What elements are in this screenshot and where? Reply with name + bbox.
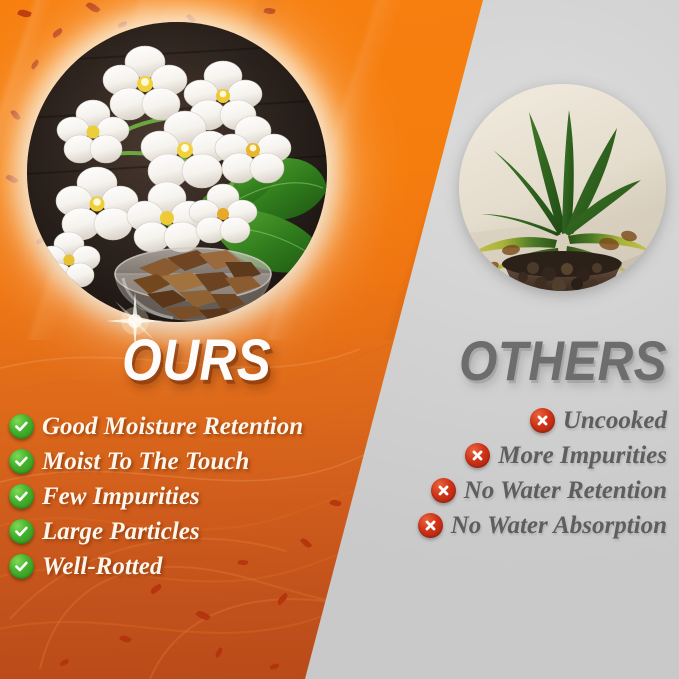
list-item: Good Moisture Retention bbox=[9, 414, 303, 439]
list-item-label: Few Impurities bbox=[42, 484, 200, 509]
list-item: Few Impurities bbox=[9, 484, 200, 509]
ours-product-photo bbox=[27, 22, 327, 322]
others-feature-list: Uncooked More Impurities No Water Retent… bbox=[418, 408, 667, 538]
list-item-label: Large Particles bbox=[42, 519, 200, 544]
list-item: Uncooked bbox=[530, 408, 667, 433]
cross-icon bbox=[530, 408, 555, 433]
others-heading: OTHERS bbox=[459, 328, 667, 393]
list-item: Well-Rotted bbox=[9, 554, 162, 579]
check-icon bbox=[9, 519, 34, 544]
others-product-photo bbox=[459, 84, 666, 291]
list-item: No Water Absorption bbox=[418, 513, 667, 538]
list-item-label: Uncooked bbox=[563, 408, 667, 433]
list-item-label: Good Moisture Retention bbox=[42, 414, 303, 439]
list-item: More Impurities bbox=[465, 443, 667, 468]
ours-feature-list: Good Moisture Retention Moist To The Tou… bbox=[9, 414, 303, 579]
cross-icon bbox=[465, 443, 490, 468]
ours-heading: OURS bbox=[122, 327, 271, 394]
healthy-orchid-illustration bbox=[27, 22, 327, 322]
check-icon bbox=[9, 414, 34, 439]
list-item-label: Well-Rotted bbox=[42, 554, 162, 579]
cross-icon bbox=[418, 513, 443, 538]
unhealthy-plant-illustration bbox=[459, 84, 666, 291]
list-item-label: No Water Absorption bbox=[451, 513, 667, 538]
list-item-label: More Impurities bbox=[498, 443, 667, 468]
comparison-infographic: OURS OTHERS Good Moisture Retention Mois… bbox=[0, 0, 679, 679]
check-icon bbox=[9, 554, 34, 579]
list-item: No Water Retention bbox=[431, 478, 667, 503]
cross-icon bbox=[431, 478, 456, 503]
check-icon bbox=[9, 484, 34, 509]
list-item: Large Particles bbox=[9, 519, 200, 544]
list-item-label: Moist To The Touch bbox=[42, 449, 249, 474]
list-item-label: No Water Retention bbox=[464, 478, 667, 503]
list-item: Moist To The Touch bbox=[9, 449, 249, 474]
check-icon bbox=[9, 449, 34, 474]
